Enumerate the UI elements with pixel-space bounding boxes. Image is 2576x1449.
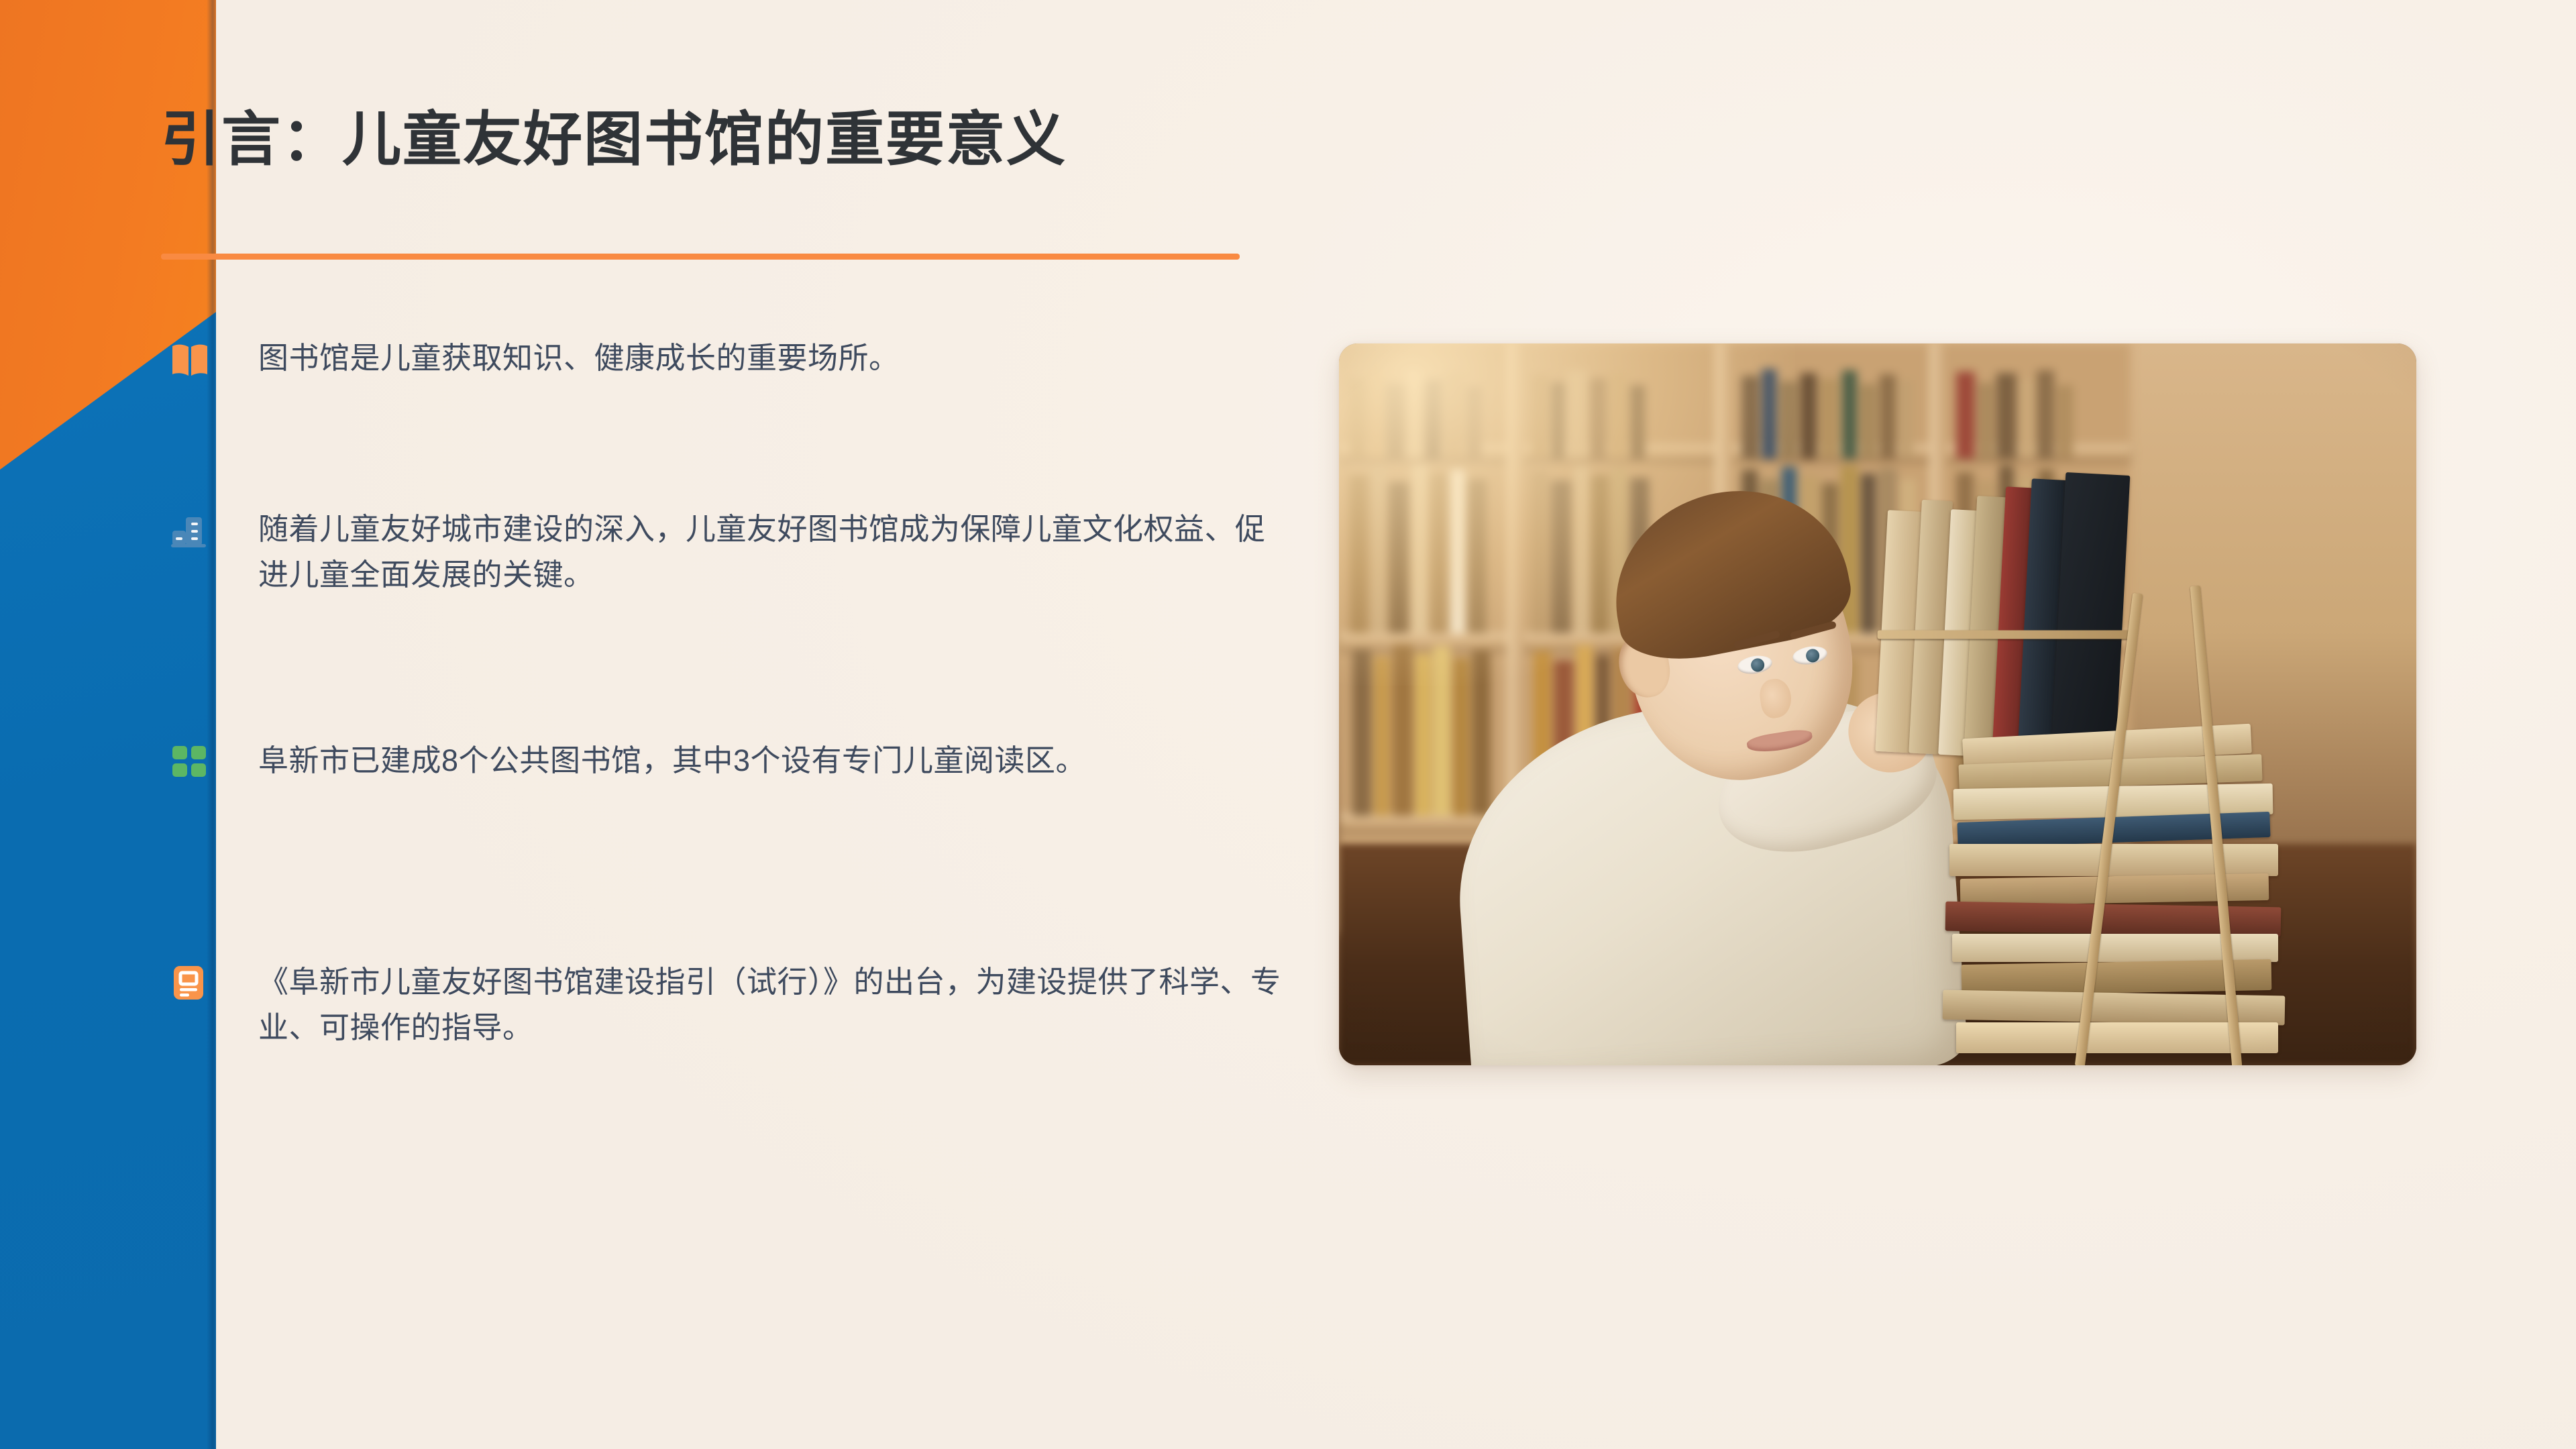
list-item-text: 图书馆是儿童获取知识、健康成长的重要场所。 — [258, 335, 1285, 381]
photo-scene — [1339, 343, 2416, 1065]
open-book-icon — [171, 341, 209, 378]
sidebar-decoration — [0, 0, 216, 1449]
city-buildings-icon — [171, 512, 209, 549]
photo-vignette — [1339, 343, 2416, 1065]
sidebar-edge-shadow — [207, 0, 216, 1449]
document-card-icon — [171, 965, 209, 1002]
list-item: 《阜新市儿童友好图书馆建设指引（试行）》的出台，为建设提供了科学、专业、可操作的… — [171, 959, 1285, 1051]
list-item: 随着儿童友好城市建设的深入，儿童友好图书馆成为保障儿童文化权益、促进儿童全面发展… — [171, 506, 1285, 598]
list-item-text: 阜新市已建成8个公共图书馆，其中3个设有专门儿童阅读区。 — [258, 738, 1285, 784]
grid-four-squares-icon — [171, 743, 209, 781]
list-item: 阜新市已建成8个公共图书馆，其中3个设有专门儿童阅读区。 — [171, 738, 1285, 784]
title-underline-rule — [161, 254, 1240, 260]
page-title: 引言：儿童友好图书馆的重要意义 — [161, 107, 1067, 172]
list-item-text: 随着儿童友好城市建设的深入，儿童友好图书馆成为保障儿童文化权益、促进儿童全面发展… — [258, 506, 1285, 598]
list-item-text: 《阜新市儿童友好图书馆建设指引（试行）》的出台，为建设提供了科学、专业、可操作的… — [258, 959, 1285, 1051]
list-item: 图书馆是儿童获取知识、健康成长的重要场所。 — [171, 335, 1285, 381]
library-photo — [1339, 343, 2416, 1065]
